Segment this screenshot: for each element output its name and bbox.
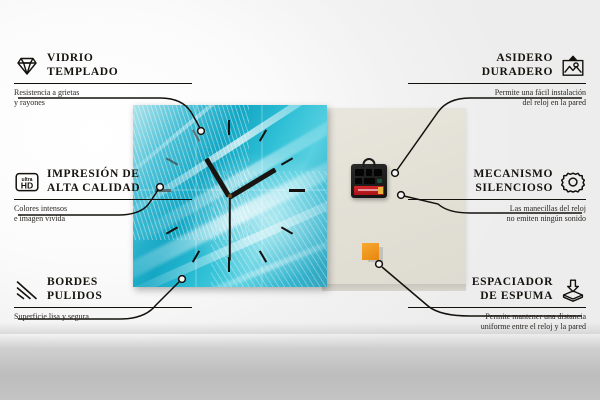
feature-header: VIDRIO TEMPLADO bbox=[14, 52, 192, 79]
hour-marker bbox=[289, 189, 305, 192]
clock-movement-mechanism bbox=[351, 164, 387, 198]
feature-title: IMPRESIÓN DE ALTA CALIDAD bbox=[47, 168, 140, 195]
feature-header: BORDES PULIDOS bbox=[14, 276, 192, 303]
desc-line-1: Permite una fácil instalación bbox=[408, 88, 586, 99]
title-line-2: PULIDOS bbox=[47, 290, 102, 304]
desc-line-1: Permite mantener una distancia bbox=[408, 312, 586, 323]
diamond-icon bbox=[14, 54, 40, 78]
battery-indicator bbox=[354, 186, 384, 195]
infographic-stage: VIDRIO TEMPLADO Resistencia a grietas y … bbox=[0, 0, 600, 400]
polished-edges-icon bbox=[14, 278, 40, 302]
feature-header: ASIDERO DURADERO bbox=[408, 52, 586, 79]
feature-asidero-duradero: ASIDERO DURADERO Permite una fácil insta… bbox=[408, 52, 586, 109]
desc-line-1: Resistencia a grietas bbox=[14, 88, 192, 99]
feature-description: Colores intensos e imagen vívida bbox=[14, 204, 192, 225]
feature-impresion-alta-calidad: ultra HD IMPRESIÓN DE ALTA CALIDAD Color… bbox=[14, 168, 192, 225]
desc-line-2: y rayones bbox=[14, 98, 192, 109]
desc-line-2: uniforme entre el reloj y la pared bbox=[408, 322, 586, 333]
desc-line-1: Colores intensos bbox=[14, 204, 192, 215]
foam-spacer-pad bbox=[362, 243, 379, 260]
feature-espaciador-de-espuma: ESPACIADOR DE ESPUMA Permite mantener un… bbox=[408, 276, 586, 333]
feature-title: MECANISMO SILENCIOSO bbox=[473, 168, 553, 195]
svg-text:HD: HD bbox=[21, 180, 33, 190]
gear-icon bbox=[560, 170, 586, 194]
title-line-1: BORDES bbox=[47, 276, 102, 290]
desc-line-2: del reloj en la pared bbox=[408, 98, 586, 109]
second-hand bbox=[229, 196, 231, 260]
title-line-2: SILENCIOSO bbox=[473, 182, 553, 196]
feature-title: ASIDERO DURADERO bbox=[482, 52, 553, 79]
title-line-1: MECANISMO bbox=[473, 168, 553, 182]
title-line-1: ESPACIADOR bbox=[472, 276, 553, 290]
title-line-2: DE ESPUMA bbox=[472, 290, 553, 304]
hanger-loop-icon bbox=[363, 158, 376, 167]
hour-marker bbox=[228, 120, 230, 135]
title-line-1: IMPRESIÓN DE bbox=[47, 168, 140, 182]
desc-line-2: no emiten ningún sonido bbox=[408, 214, 586, 225]
divider bbox=[408, 307, 586, 308]
title-line-1: VIDRIO bbox=[47, 52, 118, 66]
feature-description: Las manecillas del reloj no emiten ningú… bbox=[408, 204, 586, 225]
title-line-2: DURADERO bbox=[482, 66, 553, 80]
feature-header: ultra HD IMPRESIÓN DE ALTA CALIDAD bbox=[14, 168, 192, 195]
feature-vidrio-templado: VIDRIO TEMPLADO Resistencia a grietas y … bbox=[14, 52, 192, 109]
title-line-2: TEMPLADO bbox=[47, 66, 118, 80]
feature-bordes-pulidos: BORDES PULIDOS Superficie lisa y segura bbox=[14, 276, 192, 322]
floor-gradient bbox=[0, 334, 600, 400]
feature-header: ESPACIADOR DE ESPUMA bbox=[408, 276, 586, 303]
feature-header: MECANISMO SILENCIOSO bbox=[408, 168, 586, 195]
divider bbox=[14, 199, 192, 200]
hanging-picture-frame-icon bbox=[560, 54, 586, 78]
feature-title: ESPACIADOR DE ESPUMA bbox=[472, 276, 553, 303]
clock-hub bbox=[228, 194, 232, 198]
foam-spacer-icon bbox=[560, 278, 586, 302]
title-line-2: ALTA CALIDAD bbox=[47, 182, 140, 196]
desc-line-1: Las manecillas del reloj bbox=[408, 204, 586, 215]
desc-line-1: Superficie lisa y segura bbox=[14, 312, 192, 323]
ultra-hd-icon: ultra HD bbox=[14, 170, 40, 194]
desc-line-2: e imagen vívida bbox=[14, 214, 192, 225]
divider bbox=[408, 199, 586, 200]
divider bbox=[14, 307, 192, 308]
feature-description: Superficie lisa y segura bbox=[14, 312, 192, 323]
divider bbox=[408, 83, 586, 84]
divider bbox=[14, 83, 192, 84]
feature-title: VIDRIO TEMPLADO bbox=[47, 52, 118, 79]
feature-description: Permite una fácil instalación del reloj … bbox=[408, 88, 586, 109]
feature-description: Resistencia a grietas y rayones bbox=[14, 88, 192, 109]
title-line-1: ASIDERO bbox=[482, 52, 553, 66]
feature-description: Permite mantener una distancia uniforme … bbox=[408, 312, 586, 333]
feature-title: BORDES PULIDOS bbox=[47, 276, 102, 303]
feature-mecanismo-silencioso: MECANISMO SILENCIOSO Las manecillas del … bbox=[408, 168, 586, 225]
